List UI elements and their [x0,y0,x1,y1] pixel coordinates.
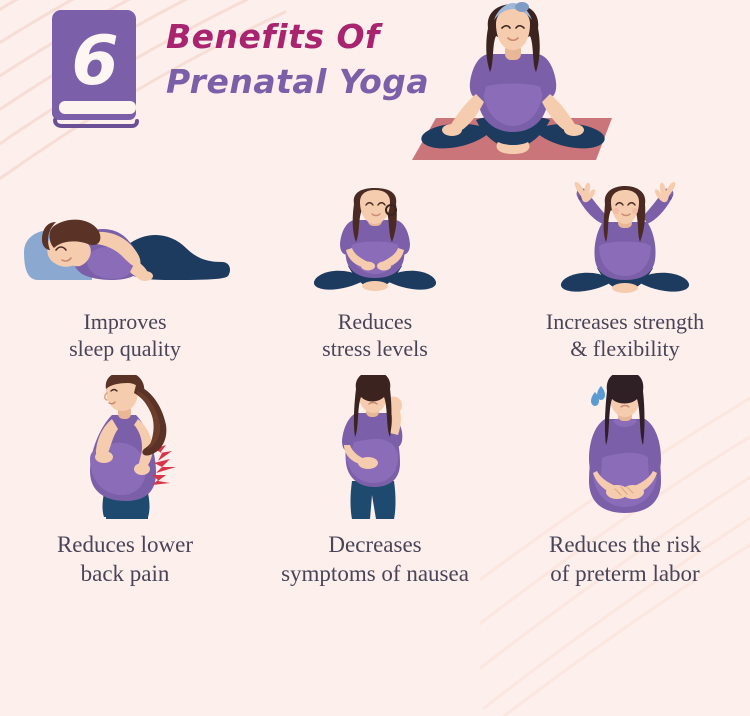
benefit-caption-5: Decreases symptoms of nausea [281,530,469,588]
benefit-caption-4-line-1: Reduces lower [57,530,193,559]
benefit-caption-2-line-2: stress levels [322,335,428,362]
infographic-canvas: 6 Benefits Of Prenatal Yoga [0,0,750,646]
benefit-caption-3-line-1: Increases strength [546,308,704,335]
benefits-grid: Improves sleep quality [0,185,750,625]
seated-meditating-pregnant-woman-icon [310,188,440,300]
benefit-card-6: Reduces the risk of preterm labor [500,375,750,590]
benefit-card-5: Decreases symptoms of nausea [250,375,500,590]
pregnant-woman-holding-belly-icon [553,375,698,520]
benefit-art-6 [553,375,698,520]
benefit-caption-6-line-1: Reduces the risk [549,530,701,559]
benefit-caption-5-line-2: symptoms of nausea [281,559,469,588]
benefit-caption-4-line-2: back pain [57,559,193,588]
svg-text:6: 6 [71,22,118,101]
benefit-card-3: Increases strength & flexibility [500,185,750,375]
pregnant-woman-arms-raised-icon [545,182,705,300]
benefit-art-3 [545,185,705,300]
benefit-caption-3: Increases strength & flexibility [546,308,704,362]
benefit-art-4 [50,375,200,520]
benefit-art-1 [18,185,233,300]
sleeping-pregnant-woman-icon [18,200,233,300]
benefit-caption-2-line-1: Reduces [322,308,428,335]
benefit-caption-3-line-2: & flexibility [546,335,704,362]
benefit-caption-1-line-2: sleep quality [69,335,181,362]
benefit-art-2 [310,185,440,300]
pregnant-woman-lotus-pose-illustration [398,2,628,172]
book-icon: 6 [48,8,142,128]
benefit-caption-1: Improves sleep quality [69,308,181,362]
benefit-caption-2: Reduces stress levels [322,308,428,362]
benefit-caption-4: Reduces lower back pain [57,530,193,588]
header: 6 Benefits Of Prenatal Yoga [0,0,750,180]
benefit-caption-6: Reduces the risk of preterm labor [549,530,701,588]
benefit-card-4: Reduces lower back pain [0,375,250,590]
pregnant-woman-nausea-icon [310,375,440,520]
benefit-art-5 [310,375,440,520]
pregnant-woman-back-pain-icon [50,375,200,520]
benefit-caption-6-line-2: of preterm labor [549,559,701,588]
benefit-caption-5-line-1: Decreases [281,530,469,559]
benefit-caption-1-line-1: Improves [69,308,181,335]
benefit-card-2: Reduces stress levels [250,185,500,375]
benefit-card-1: Improves sleep quality [0,185,250,375]
